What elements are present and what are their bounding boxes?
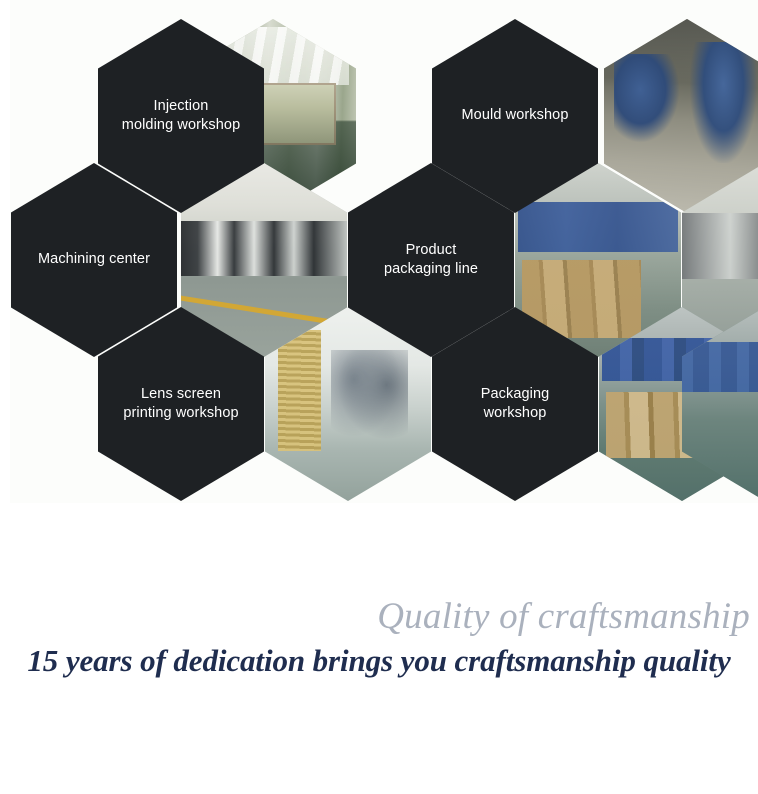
hex-label: Mould workshop — [448, 106, 583, 125]
honeycomb-panel: Injection molding workshop Mould worksho… — [10, 0, 758, 503]
tagline-block: Quality of craftsmanship 15 years of ded… — [0, 596, 758, 680]
hex-label: Product packaging line — [370, 241, 492, 279]
hex-label: Packaging workshop — [467, 385, 564, 423]
tagline-primary: Quality of craftsmanship — [0, 596, 758, 637]
hex-label: Machining center — [24, 250, 164, 269]
hex-label: Lens screen printing workshop — [109, 385, 252, 423]
hex-label: Injection molding workshop — [108, 97, 254, 135]
tagline-secondary: 15 years of dedication brings you crafts… — [0, 643, 758, 680]
